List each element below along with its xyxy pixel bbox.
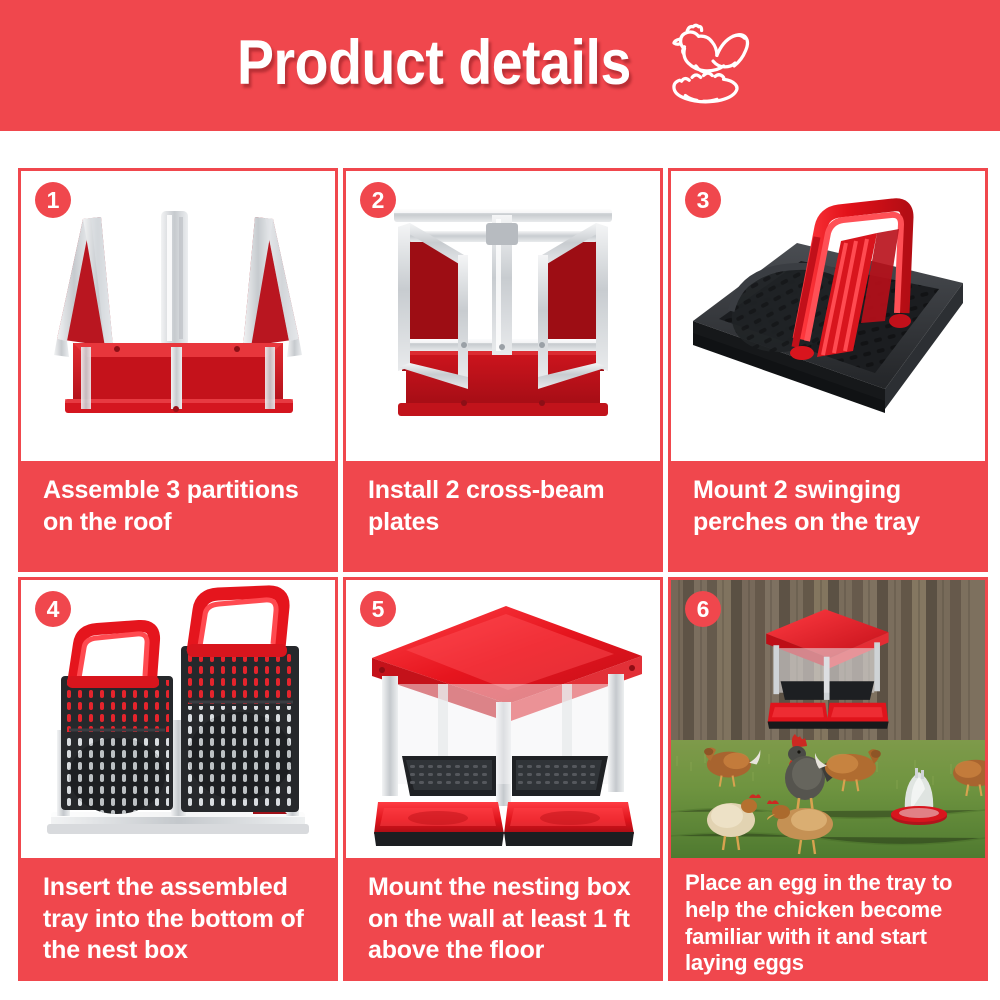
page-title: Product details [237, 32, 631, 95]
step-number-badge-2: 2 [360, 182, 396, 218]
step-panel-6: 6 [668, 577, 988, 981]
product-details-infographic: Product details [0, 0, 1000, 1000]
header-banner: Product details [0, 0, 1000, 131]
step-panel-5: 5 [343, 577, 663, 981]
step-image-2 [346, 171, 660, 461]
step-caption-3: Mount 2 swinging perches on the tray [671, 461, 985, 569]
step-image-1 [21, 171, 335, 461]
step-number-badge-4: 4 [35, 591, 71, 627]
step-image-5 [346, 580, 660, 858]
step-caption-1: Assemble 3 partitions on the roof [21, 461, 335, 569]
hen-on-nest-icon [667, 21, 763, 107]
step-image-4 [21, 580, 335, 858]
step-number-badge-5: 5 [360, 591, 396, 627]
step-image-6 [671, 580, 985, 858]
step-caption-5: Mount the nesting box on the wall at lea… [346, 858, 660, 978]
step-number-badge-6: 6 [685, 591, 721, 627]
steps-grid: 1 [18, 168, 988, 988]
step-caption-4: Insert the assembled tray into the botto… [21, 858, 335, 978]
step-image-3 [671, 171, 985, 461]
step-number-badge-1: 1 [35, 182, 71, 218]
step-caption-2: Install 2 cross-beam plates [346, 461, 660, 569]
step-panel-2: 2 [343, 168, 663, 572]
step-caption-6: Place an egg in the tray to help the chi… [671, 858, 985, 978]
step-panel-4: 4 [18, 577, 338, 981]
step-panel-1: 1 [18, 168, 338, 572]
step-panel-3: 3 [668, 168, 988, 572]
step-number-badge-3: 3 [685, 182, 721, 218]
